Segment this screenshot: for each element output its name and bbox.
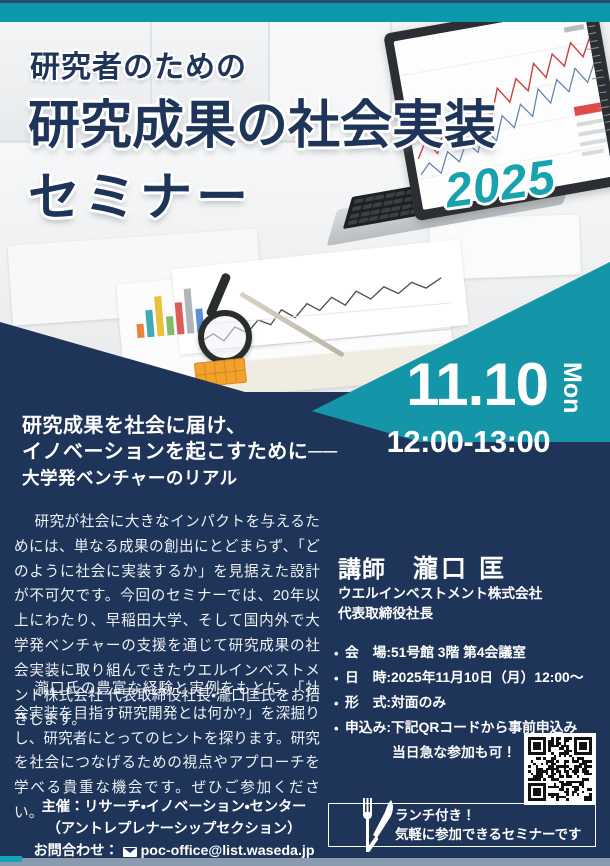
organizer-block: 主催：リサーチ・イノベーション・センター （アントレプレナーシップセクション） …: [24, 796, 324, 862]
magnifier-icon: [198, 310, 252, 364]
detail-value: 51号館 3階 第4会議室: [391, 646, 606, 660]
tagline-line-1: 研究成果を社会に届け、: [22, 413, 338, 439]
bottom-strip: [0, 858, 610, 866]
bottom-teal-accent: [0, 856, 22, 862]
bullet-icon: •: [334, 646, 345, 662]
event-dayofweek: Mon: [557, 362, 586, 413]
lunch-line-2: 気軽に参加できるセミナーです: [395, 825, 581, 844]
bullet-icon: •: [334, 696, 345, 712]
fork-knife-icon: [351, 796, 397, 854]
top-teal-bar: [0, 2, 610, 22]
organizer-line-2: （アントレプレナーシップセクション）: [24, 818, 324, 840]
detail-row-format: • 形 式: 対面のみ: [334, 696, 606, 712]
lunch-line-1: ランチ付き！: [395, 806, 581, 825]
tagline: 研究成果を社会に届け、 イノベーションを起こすために── 大学発ベンチャーのリア…: [22, 413, 338, 491]
tagline-line-2: イノベーションを起こすために──: [22, 439, 338, 465]
organizer-line-1: 主催：リサーチ・イノベーション・センター: [24, 796, 324, 818]
page-subtitle: 研究者のための: [30, 42, 247, 86]
detail-value: 対面のみ: [391, 696, 606, 710]
event-date: 11.10: [406, 355, 548, 415]
qr-code[interactable]: [524, 733, 596, 805]
detail-value: 2025年11月10日（月）12:00～: [391, 671, 606, 685]
speaker-name: 瀧口 匡: [413, 549, 507, 585]
detail-key: 日 時:: [345, 671, 391, 685]
detail-row-datetime: • 日 時: 2025年11月10日（月）12:00～: [334, 671, 606, 687]
seminar-poster: 研究者のための 研究成果の社会実装 セミナー 2025 11.10 Mon 12…: [0, 0, 610, 866]
speaker-label: 講師: [338, 550, 386, 584]
detail-key: 形 式:: [345, 696, 391, 710]
lunch-notice-box: ランチ付き！ 気軽に参加できるセミナーです: [328, 803, 596, 847]
page-title-line2: セミナー: [28, 172, 252, 224]
qr-code-image: [528, 737, 592, 801]
bullet-icon: •: [334, 721, 345, 737]
bullet-icon: •: [334, 671, 345, 687]
event-time: 12:00-13:00: [387, 424, 550, 460]
detail-key: 申込み:: [345, 721, 391, 735]
lunch-notice-text: ランチ付き！ 気軽に参加できるセミナーです: [395, 806, 581, 845]
speaker-org-line1: ウエルインベストメント株式会社: [338, 584, 542, 604]
tagline-line-3: 大学発ベンチャーのリアル: [22, 466, 338, 491]
mail-icon: [123, 847, 137, 857]
speaker-org-line2: 代表取締役社長: [338, 604, 542, 624]
page-title-line1: 研究成果の社会実装: [28, 100, 496, 152]
detail-key: 会 場:: [345, 646, 391, 660]
detail-row-venue: • 会 場: 51号館 3階 第4会議室: [334, 646, 606, 662]
top-edge-line: [0, 0, 610, 3]
speaker-organization: ウエルインベストメント株式会社 代表取締役社長: [338, 584, 542, 623]
